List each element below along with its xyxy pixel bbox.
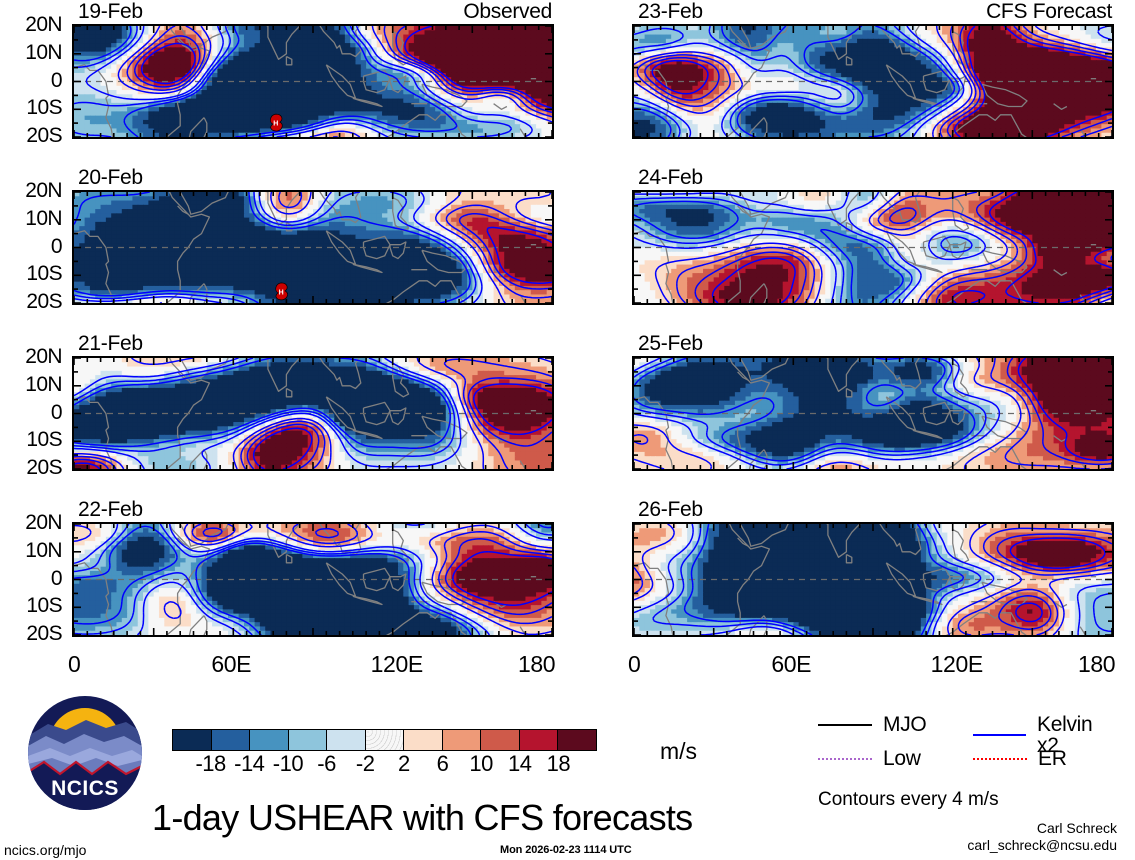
colorbar-swatch-6 (404, 730, 443, 750)
legend-item-mjo: MJO (818, 714, 926, 735)
y-axis-label: 10S (0, 263, 62, 284)
y-axis-label: 10N (0, 42, 62, 63)
legend-line-swatch (973, 734, 1026, 736)
credit-email: carl_schreck@ncsu.edu (967, 837, 1117, 854)
panel-date-label: 22-Feb (78, 499, 143, 520)
y-axis-label: 10N (0, 208, 62, 229)
x-axis-label: 180 (1078, 653, 1115, 676)
y-axis-label: 20N (0, 14, 62, 35)
legend-line-swatch (818, 724, 872, 726)
panel-22-feb: 22-Feb (72, 522, 554, 637)
map-canvas (632, 24, 1114, 139)
colorbar-tick: -2 (356, 753, 375, 775)
colorbar-unit-label: m/s (660, 740, 697, 763)
colorbar-swatch-0 (173, 730, 212, 750)
panel-19-feb: 19-FebObservedH (72, 24, 554, 139)
y-axis-label: 10S (0, 429, 62, 450)
panel-20-feb: 20-FebH (72, 190, 554, 305)
colorbar-tick: 10 (469, 753, 492, 775)
panel-date-label: 21-Feb (78, 333, 143, 354)
legend-item-low: Low (818, 748, 921, 769)
y-axis-label: 20S (0, 623, 62, 644)
y-axis-label: 0 (0, 568, 62, 589)
contour-interval-note: Contours every 4 m/s (818, 790, 999, 809)
map-canvas (632, 522, 1114, 637)
colorbar-swatch-3 (289, 730, 328, 750)
credit-block: Carl Schreck carl_schreck@ncsu.edu (967, 820, 1117, 854)
y-axis-label: 10S (0, 595, 62, 616)
colorbar-tick: -10 (273, 753, 303, 775)
colorbar (172, 729, 597, 751)
legend-item-er: ER (973, 748, 1067, 769)
x-axis-label: 0 (68, 653, 80, 676)
svg-text:H: H (273, 121, 278, 128)
colorbar-swatch-8 (481, 730, 520, 750)
colorbar-swatch-7 (443, 730, 482, 750)
x-axis-label: 0 (628, 653, 640, 676)
colorbar-tick: -18 (195, 753, 225, 775)
panel-26-feb: 26-Feb (632, 522, 1114, 637)
column-header-forecast: CFS Forecast (986, 1, 1112, 22)
panel-date-label: 25-Feb (638, 333, 703, 354)
y-axis-label: 0 (0, 236, 62, 257)
site-url: ncics.org/mjo (4, 843, 86, 857)
colorbar-tick: 14 (508, 753, 531, 775)
panel-21-feb: 21-Feb (72, 356, 554, 471)
colorbar-swatch-2 (250, 730, 289, 750)
legend-label: MJO (883, 714, 926, 735)
y-axis-label: 10N (0, 374, 62, 395)
x-axis-label: 120E (931, 653, 983, 676)
y-axis-label: 20S (0, 457, 62, 478)
x-axis-label: 60E (771, 653, 811, 676)
panel-date-label: 20-Feb (78, 167, 143, 188)
ncics-logo: NCICS (26, 694, 144, 812)
colorbar-swatch-10 (558, 730, 596, 750)
colorbar-tick-labels: -18-14-10-6-226101418 (172, 753, 597, 777)
panel-date-label: 26-Feb (638, 499, 703, 520)
x-axis-label: 120E (371, 653, 423, 676)
y-axis-label: 20N (0, 512, 62, 533)
colorbar-tick: 6 (437, 753, 449, 775)
map-canvas: H (72, 190, 554, 305)
map-canvas: H (72, 24, 554, 139)
panel-date-label: 23-Feb (638, 1, 703, 22)
panel-24-feb: 24-Feb (632, 190, 1114, 305)
colorbar-tick: -14 (234, 753, 264, 775)
panel-date-label: 19-Feb (78, 1, 143, 22)
y-axis-label: 20S (0, 291, 62, 312)
timestamp: Mon 2026-02-23 1114 UTC (500, 845, 632, 856)
y-axis-label: 0 (0, 402, 62, 423)
map-canvas (632, 190, 1114, 305)
y-axis-label: 10S (0, 97, 62, 118)
y-axis-label: 0 (0, 70, 62, 91)
column-header-observed: Observed (463, 1, 552, 22)
colorbar-swatch-5 (366, 730, 405, 750)
panel-23-feb: 23-FebCFS Forecast (632, 24, 1114, 139)
map-canvas (72, 522, 554, 637)
page-title: 1-day USHEAR with CFS forecasts (152, 800, 692, 836)
ncics-logo-graphic: NCICS (26, 694, 144, 812)
map-canvas (632, 356, 1114, 471)
y-axis-label: 20N (0, 180, 62, 201)
credit-name: Carl Schreck (967, 820, 1117, 837)
colorbar-tick: 2 (398, 753, 410, 775)
x-axis-label: 180 (518, 653, 555, 676)
colorbar-tick: 18 (547, 753, 570, 775)
tc-symbol: H (276, 283, 288, 300)
panel-25-feb: 25-Feb (632, 356, 1114, 471)
colorbar-swatch-1 (212, 730, 251, 750)
x-axis-label: 60E (211, 653, 251, 676)
legend-line-swatch (973, 758, 1027, 760)
y-axis-label: 10N (0, 540, 62, 561)
svg-text:H: H (279, 290, 284, 297)
legend-label: Low (883, 748, 921, 769)
tc-symbol: H (270, 114, 282, 131)
colorbar-swatch-4 (327, 730, 366, 750)
y-axis-label: 20S (0, 125, 62, 146)
y-axis-label: 20N (0, 346, 62, 367)
colorbar-tick: -6 (317, 753, 336, 775)
legend-label: ER (1038, 748, 1067, 769)
panel-date-label: 24-Feb (638, 167, 703, 188)
legend-line-swatch (818, 758, 872, 760)
map-canvas (72, 356, 554, 471)
colorbar-swatch-9 (520, 730, 559, 750)
